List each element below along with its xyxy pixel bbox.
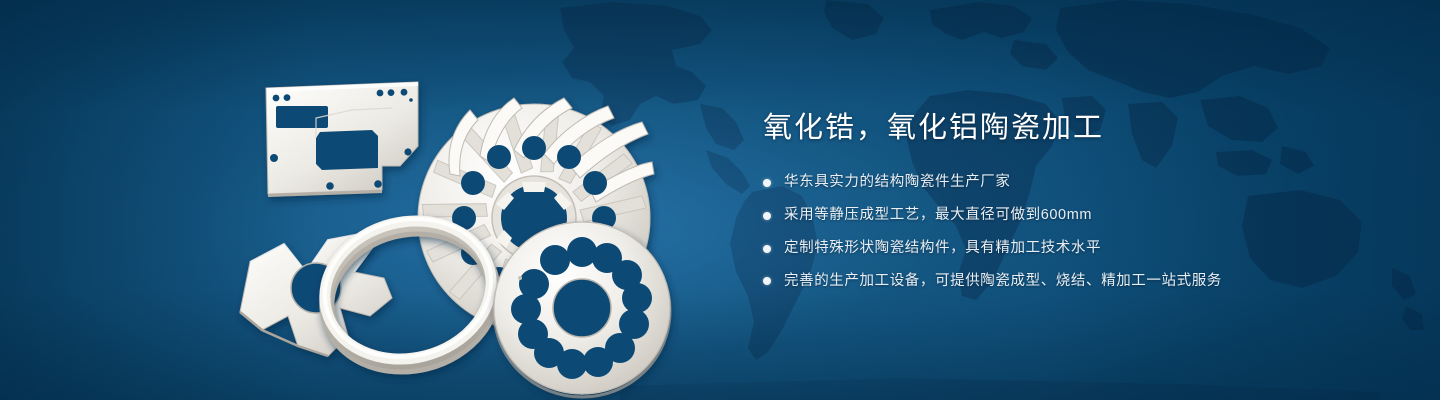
bullet-dot-icon xyxy=(763,277,771,285)
list-item: 定制特殊形状陶瓷结构件，具有精加工技术水平 xyxy=(763,238,1383,260)
product-cross-plate xyxy=(240,234,392,356)
feature-text: 华东具实力的结构陶瓷件生产厂家 xyxy=(784,172,1011,194)
bullet-dot-icon xyxy=(763,179,771,187)
feature-text: 定制特殊形状陶瓷结构件，具有精加工技术水平 xyxy=(784,238,1101,260)
page-title: 氧化锆，氧化铝陶瓷加工 xyxy=(763,110,1383,146)
banner-copy: 氧化锆，氧化铝陶瓷加工 华东具实力的结构陶瓷件生产厂家 采用等静压成型工艺，最大… xyxy=(763,110,1383,292)
feature-text: 完善的生产加工设备，可提供陶瓷成型、烧结、精加工一站式服务 xyxy=(784,271,1222,293)
list-item: 完善的生产加工设备，可提供陶瓷成型、烧结、精加工一站式服务 xyxy=(763,271,1383,293)
bullet-dot-icon xyxy=(763,212,771,220)
feature-list: 华东具实力的结构陶瓷件生产厂家 采用等静压成型工艺，最大直径可做到600mm 定… xyxy=(763,172,1383,292)
list-item: 采用等静压成型工艺，最大直径可做到600mm xyxy=(763,205,1383,227)
ceramic-products-image xyxy=(232,40,692,380)
bullet-dot-icon xyxy=(763,245,771,253)
product-flat-plate xyxy=(266,82,418,197)
product-perforated-disc xyxy=(494,222,670,397)
list-item: 华东具实力的结构陶瓷件生产厂家 xyxy=(763,172,1383,194)
feature-text: 采用等静压成型工艺，最大直径可做到600mm xyxy=(784,205,1092,227)
hero-banner: 氧化锆，氧化铝陶瓷加工 华东具实力的结构陶瓷件生产厂家 采用等静压成型工艺，最大… xyxy=(0,0,1440,400)
